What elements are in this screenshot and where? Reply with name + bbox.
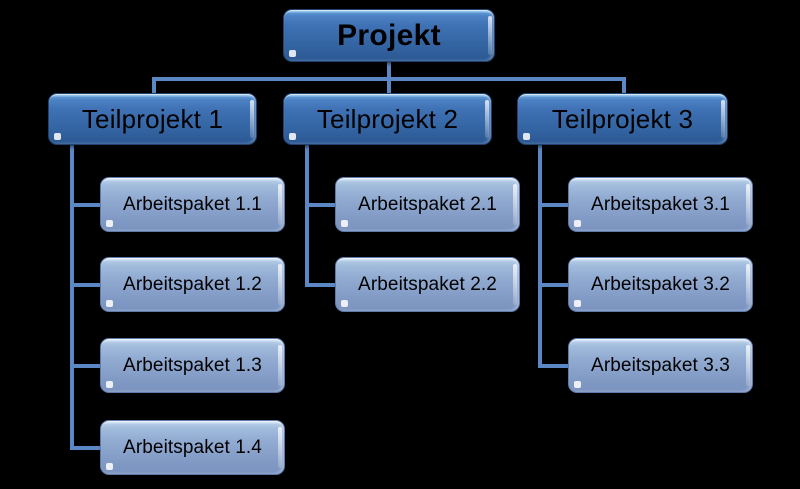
diagram-canvas: Projekt Teilprojekt 1 Teilprojekt 2 Teil…: [0, 0, 800, 489]
node-arbeitspaket-1-3-label: Arbeitspaket 1.3: [117, 356, 268, 375]
connector-spine-col3: [538, 145, 542, 368]
node-arbeitspaket-2-1[interactable]: Arbeitspaket 2.1: [335, 177, 520, 232]
connector-spine-col2: [305, 145, 309, 287]
connector-spine-col1: [70, 145, 74, 450]
node-arbeitspaket-3-2-label: Arbeitspaket 3.2: [585, 275, 736, 294]
connector-branch-1-1: [70, 203, 102, 207]
node-projekt-label: Projekt: [331, 21, 447, 51]
node-teilprojekt-3-label: Teilprojekt 3: [546, 106, 699, 132]
node-arbeitspaket-1-4-label: Arbeitspaket 1.4: [117, 438, 268, 457]
node-arbeitspaket-3-3[interactable]: Arbeitspaket 3.3: [568, 338, 753, 393]
connector-branch-1-2: [70, 283, 102, 287]
connector-branch-2-2: [305, 283, 337, 287]
node-arbeitspaket-3-3-label: Arbeitspaket 3.3: [585, 356, 736, 375]
node-arbeitspaket-3-2[interactable]: Arbeitspaket 3.2: [568, 257, 753, 312]
node-teilprojekt-2-label: Teilprojekt 2: [311, 106, 464, 132]
connector-branch-1-4: [70, 446, 102, 450]
node-arbeitspaket-2-2-label: Arbeitspaket 2.2: [352, 275, 503, 294]
node-arbeitspaket-1-1-label: Arbeitspaket 1.1: [117, 195, 268, 214]
node-arbeitspaket-3-1-label: Arbeitspaket 3.1: [585, 195, 736, 214]
node-projekt[interactable]: Projekt: [283, 9, 495, 62]
node-teilprojekt-3[interactable]: Teilprojekt 3: [517, 93, 728, 145]
node-arbeitspaket-1-2[interactable]: Arbeitspaket 1.2: [100, 257, 285, 312]
connector-branch-1-3: [70, 364, 102, 368]
node-arbeitspaket-3-1[interactable]: Arbeitspaket 3.1: [568, 177, 753, 232]
connector-branch-3-2: [538, 283, 570, 287]
node-teilprojekt-1[interactable]: Teilprojekt 1: [48, 93, 257, 145]
node-arbeitspaket-1-3[interactable]: Arbeitspaket 1.3: [100, 338, 285, 393]
node-arbeitspaket-2-2[interactable]: Arbeitspaket 2.2: [335, 257, 520, 312]
node-arbeitspaket-1-4[interactable]: Arbeitspaket 1.4: [100, 420, 285, 475]
connector-branch-3-3: [538, 364, 570, 368]
node-arbeitspaket-2-1-label: Arbeitspaket 2.1: [352, 195, 503, 214]
node-teilprojekt-2[interactable]: Teilprojekt 2: [283, 93, 492, 145]
node-teilprojekt-1-label: Teilprojekt 1: [76, 106, 229, 132]
node-arbeitspaket-1-2-label: Arbeitspaket 1.2: [117, 275, 268, 294]
connector-branch-2-1: [305, 203, 337, 207]
node-arbeitspaket-1-1[interactable]: Arbeitspaket 1.1: [100, 177, 285, 232]
connector-branch-3-1: [538, 203, 570, 207]
